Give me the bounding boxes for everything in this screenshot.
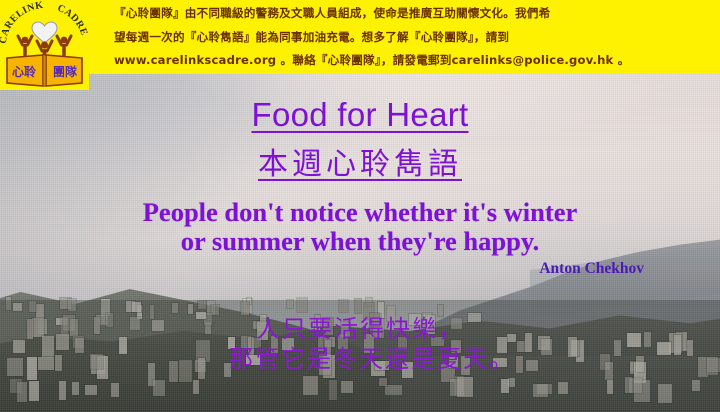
svg-text:CADRE: CADRE [56, 3, 89, 37]
heart-icon [32, 22, 57, 43]
banner-text: 『心聆團隊』由不同職級的警務及文職人員組成，使命是推廣互助關懷文化。我們希 望每… [114, 2, 718, 73]
page-title-english: Food for Heart [0, 96, 720, 134]
carelinks-cadre-logo: CARELINKS CADRE 心聆 團隊 [0, 0, 89, 90]
book-left-chars: 心聆 [12, 64, 36, 79]
logo-artwork: CARELINKS CADRE 心聆 團隊 [0, 0, 89, 90]
page-title-chinese: 本週心聆雋語 [0, 139, 720, 183]
quote-author: Anton Chekhov [0, 260, 720, 278]
book-right-chars: 團隊 [53, 64, 78, 79]
quote-chinese: 人只要活得快樂， 那管它是冬天還是夏天。 [0, 284, 720, 404]
quote-chinese-line1: 人只要活得快樂， [256, 315, 464, 343]
quote-chinese-line2: 那管它是冬天還是夏天。 [0, 344, 720, 374]
info-banner: 『心聆團隊』由不同職級的警務及文職人員組成，使命是推廣互助關懷文化。我們希 望每… [0, 0, 720, 74]
quote-english: People don't notice whether it's winter … [0, 198, 720, 256]
